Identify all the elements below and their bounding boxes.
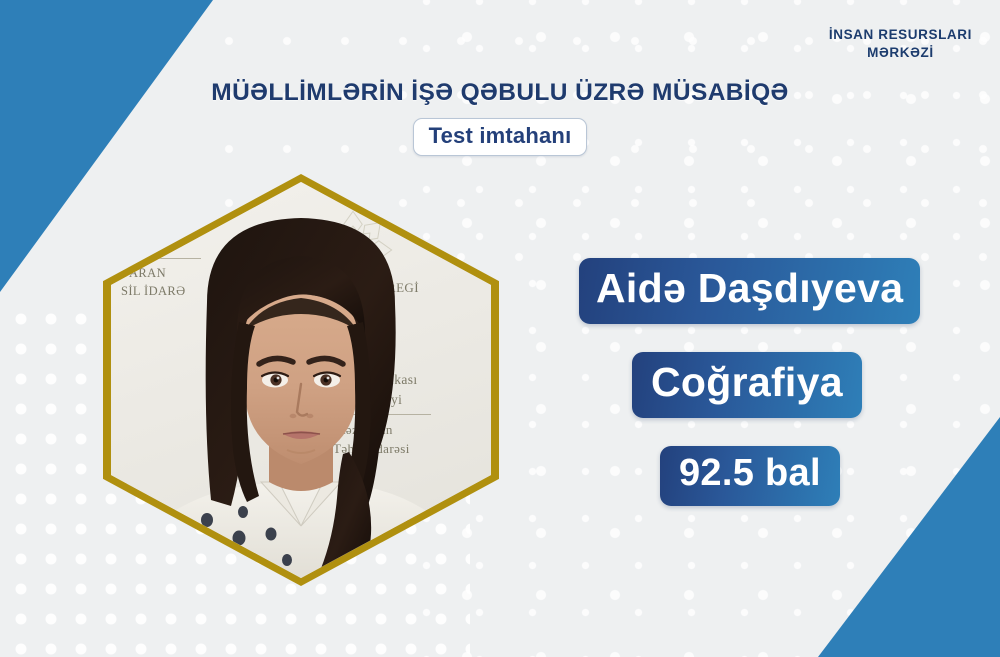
brand-logo-line-2: MƏRKƏZİ <box>829 44 972 62</box>
candidate-name-badge: Aidə Daşdıyeva <box>579 258 920 324</box>
poster-canvas: İNSAN RESURSLARI MƏRKƏZİ MÜƏLLİMLƏRİN İŞ… <box>0 0 1000 657</box>
hexagon-photo-clip: BLİKASI AZİRLİYİ ARAN SİL İDARƏ REGİ Res… <box>111 182 491 578</box>
candidate-photo-frame: BLİKASI AZİRLİYİ ARAN SİL İDARƏ REGİ Res… <box>103 174 499 586</box>
subtitle-container: Test imtahanı <box>0 118 1000 156</box>
exam-type-badge: Test imtahanı <box>413 118 588 156</box>
candidate-subject-badge: Coğrafiya <box>632 352 862 418</box>
page-title: MÜƏLLİMLƏRİN İŞƏ QƏBULU ÜZRƏ MÜSABİQƏ <box>0 79 1000 107</box>
brand-logo: İNSAN RESURSLARI MƏRKƏZİ <box>829 26 972 62</box>
backdrop-text-tl1: BLİKASI <box>133 218 185 233</box>
candidate-score-badge: 92.5 bal <box>660 446 840 506</box>
photo-backdrop: BLİKASI AZİRLİYİ ARAN SİL İDARƏ REGİ Res… <box>111 182 491 578</box>
brand-logo-line-1: İNSAN RESURSLARI <box>829 26 972 44</box>
candidate-info-panel: Aidə Daşdıyeva Coğrafiya 92.5 bal <box>560 258 960 506</box>
candidate-portrait <box>111 182 491 578</box>
